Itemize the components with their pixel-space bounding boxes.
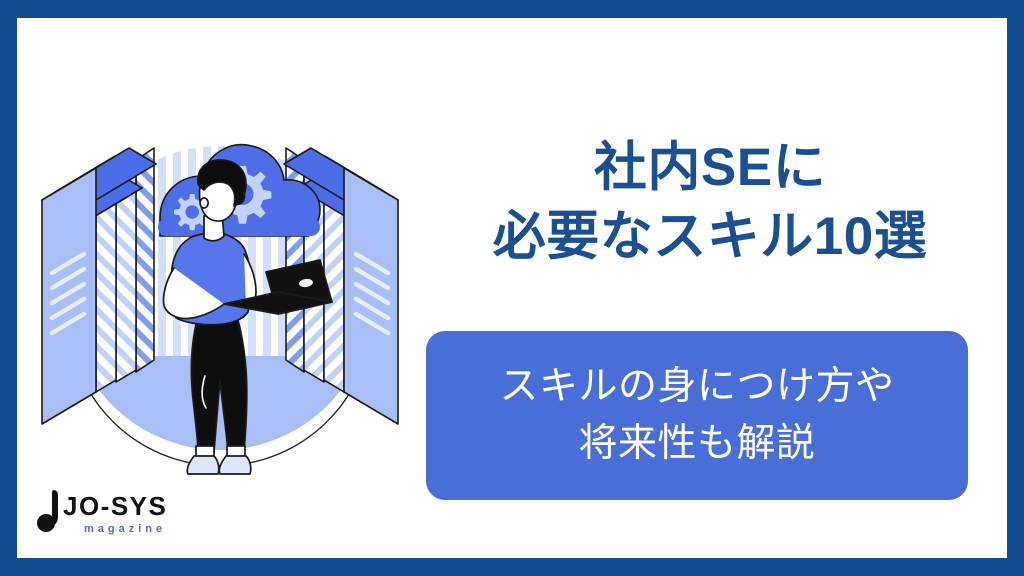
banner-root: 社内SEに 必要なスキル10選 スキルの身につけ方や 将来性も解説 JO-SYS… [0,0,1024,576]
frame-border-left [0,0,17,576]
server-room-illustration [38,108,402,490]
frame-border-bottom [0,558,1024,576]
page-title: 社内SEに 必要なスキル10選 [420,128,1000,272]
subtitle-text: スキルの身につけ方や 将来性も解説 [499,359,894,472]
frame-border-right [1007,0,1024,576]
josys-magazine-logo[interactable]: JO-SYS magazine [32,487,212,539]
logo-tagline: magazine [84,523,166,535]
text-block: 社内SEに 必要なスキル10選 スキルの身につけ方や 将来性も解説 [420,128,1000,518]
subtitle-badge: スキルの身につけ方や 将来性も解説 [426,331,968,500]
frame-border-top [0,0,1024,18]
music-note-icon [37,490,58,532]
logo-wordmark: JO-SYS [63,491,167,521]
